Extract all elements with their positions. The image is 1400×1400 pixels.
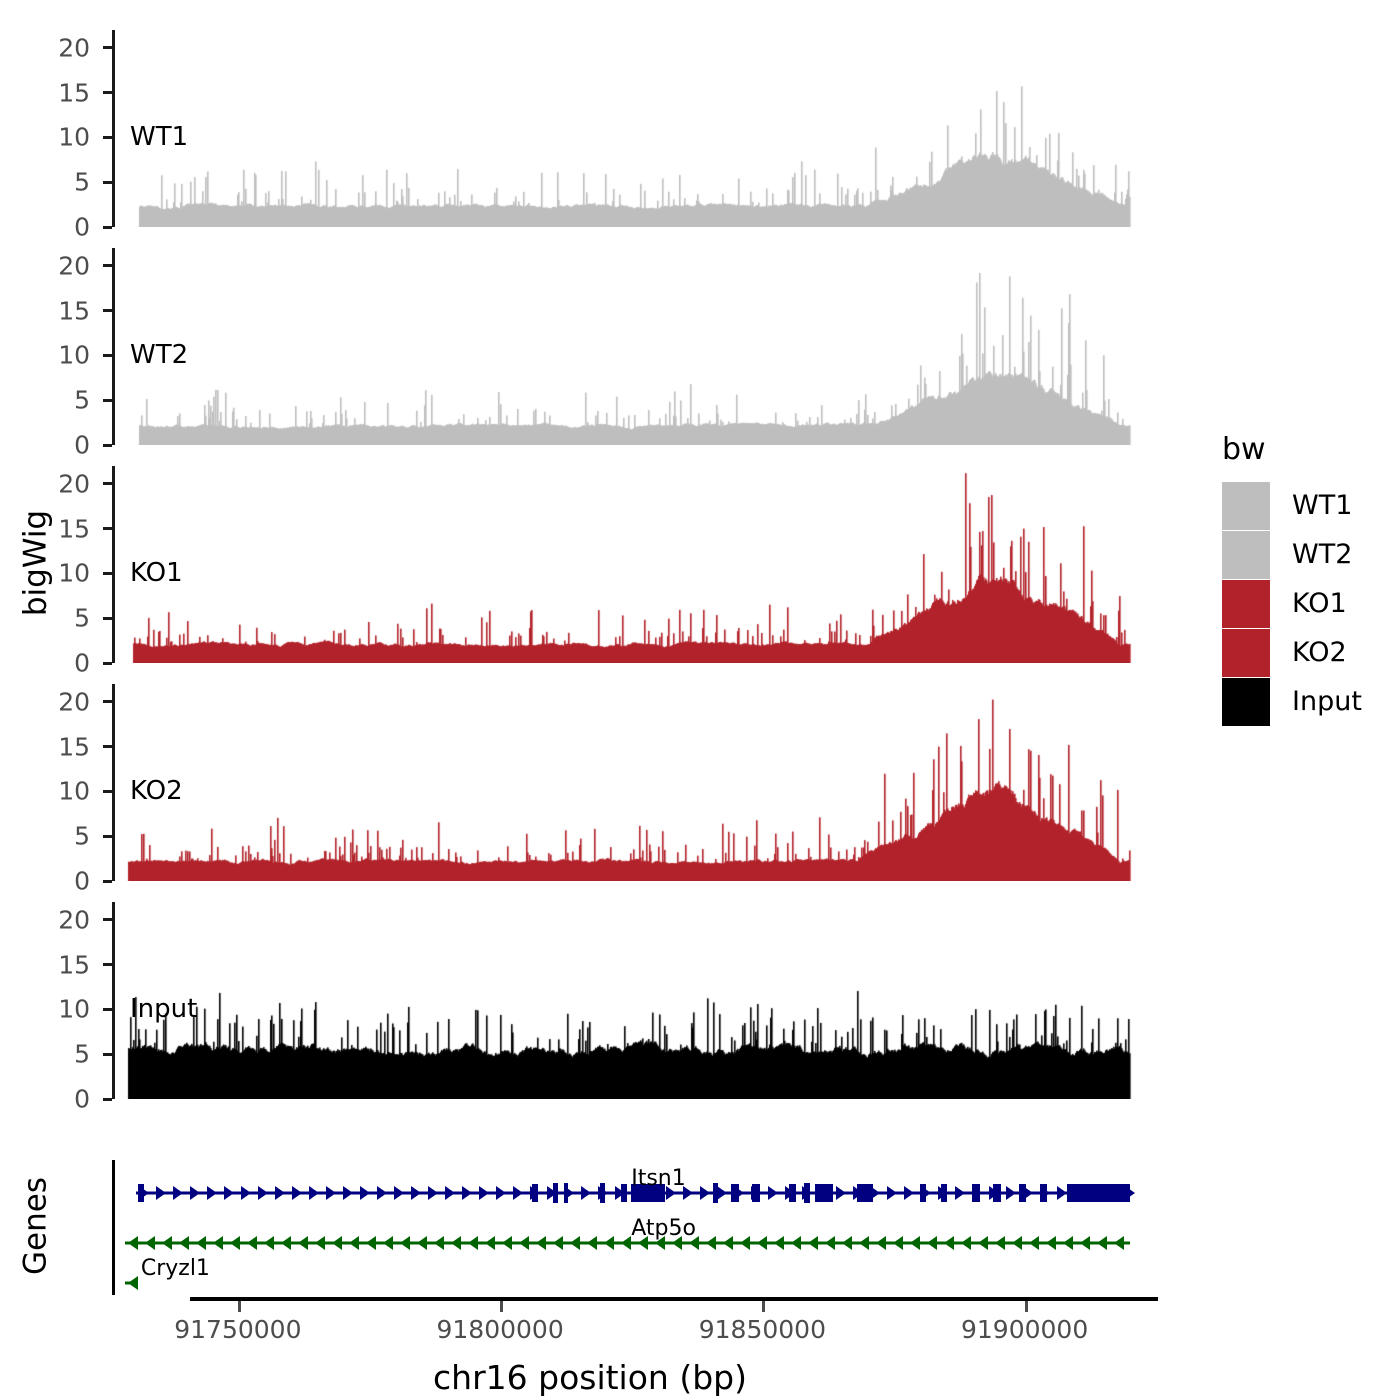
strand-arrow-reverse-icon — [791, 1236, 801, 1250]
y-tick — [103, 1098, 112, 1101]
y-tick — [103, 46, 112, 49]
y-tick — [103, 482, 112, 485]
y-tick-label: 0 — [74, 213, 90, 242]
signal-plot-area — [115, 30, 1152, 227]
strand-arrow-forward-icon — [241, 1186, 251, 1200]
legend-label: KO2 — [1292, 637, 1347, 668]
gene-label-itsn1: Itsn1 — [631, 1166, 686, 1191]
gene-exon — [731, 1184, 739, 1202]
strand-arrow-reverse-icon — [128, 1276, 138, 1290]
strand-arrow-reverse-icon — [451, 1236, 461, 1250]
gene-exon — [857, 1184, 873, 1202]
y-tick-label: 0 — [74, 431, 90, 460]
gene-exon — [804, 1183, 809, 1203]
strand-arrow-reverse-icon — [1063, 1236, 1073, 1250]
strand-arrow-forward-icon — [717, 1186, 727, 1200]
x-tick-label: 91900000 — [961, 1315, 1088, 1344]
strand-arrow-forward-icon — [411, 1186, 421, 1200]
strand-arrow-reverse-icon — [587, 1236, 597, 1250]
y-tick — [103, 226, 112, 229]
strand-arrow-forward-icon — [836, 1186, 846, 1200]
y-tick — [103, 963, 112, 966]
strand-arrow-forward-icon — [479, 1186, 489, 1200]
y-tick — [103, 1053, 112, 1056]
strand-arrow-forward-icon — [326, 1186, 336, 1200]
gene-exon — [752, 1184, 760, 1202]
y-tick — [103, 880, 112, 883]
y-tick-label: 10 — [58, 341, 90, 370]
strand-arrow-reverse-icon — [128, 1236, 138, 1250]
strand-arrow-reverse-icon — [740, 1236, 750, 1250]
strand-arrow-reverse-icon — [1012, 1236, 1022, 1250]
y-tick — [103, 790, 112, 793]
legend-swatch — [1222, 482, 1270, 530]
strand-arrow-reverse-icon — [774, 1236, 784, 1250]
strand-arrow-reverse-icon — [230, 1236, 240, 1250]
signal-panel-ko1: 05101520KO1 — [112, 466, 1152, 663]
strand-arrow-reverse-icon — [859, 1236, 869, 1250]
gene-exon — [564, 1183, 568, 1203]
y-tick-label: 5 — [74, 604, 90, 633]
y-tick-label: 20 — [58, 905, 90, 934]
x-axis-title: chr16 position (bp) — [0, 1358, 1180, 1397]
y-tick — [103, 264, 112, 267]
strand-arrow-reverse-icon — [842, 1236, 852, 1250]
y-tick-label: 0 — [74, 649, 90, 678]
y-tick-label: 15 — [58, 514, 90, 543]
strand-arrow-reverse-icon — [179, 1236, 189, 1250]
y-tick-label: 5 — [74, 386, 90, 415]
y-tick-label: 5 — [74, 822, 90, 851]
signal-panel-input: 05101520Input — [112, 902, 1152, 1099]
y-tick-label: 20 — [58, 251, 90, 280]
strand-arrow-reverse-icon — [893, 1236, 903, 1250]
signal-panel-wt1: 05101520WT1 — [112, 30, 1152, 227]
legend-swatch — [1222, 629, 1270, 677]
x-tick-label: 91750000 — [174, 1315, 301, 1344]
y-tick-label: 0 — [74, 1085, 90, 1114]
strand-arrow-reverse-icon — [944, 1236, 954, 1250]
legend-label: KO1 — [1292, 588, 1347, 619]
x-tick-label: 91850000 — [699, 1315, 826, 1344]
strand-arrow-forward-icon — [1006, 1186, 1016, 1200]
y-tick — [103, 309, 112, 312]
signal-plot-area — [115, 248, 1152, 445]
strand-arrow-forward-icon — [224, 1186, 234, 1200]
gene-exon — [941, 1184, 947, 1202]
y-axis-title-bigwig: bigWig — [17, 28, 53, 1097]
y-tick-label: 20 — [58, 33, 90, 62]
strand-arrow-forward-icon — [309, 1186, 319, 1200]
genes-panel: Itsn1Atp5oCryzl1 — [112, 1160, 1152, 1295]
strand-arrow-reverse-icon — [485, 1236, 495, 1250]
strand-arrow-forward-icon — [768, 1186, 778, 1200]
legend-swatch — [1222, 678, 1270, 726]
y-tick — [103, 91, 112, 94]
strand-arrow-reverse-icon — [247, 1236, 257, 1250]
signal-panel-ko2: 05101520KO2 — [112, 684, 1152, 881]
y-tick-label: 15 — [58, 296, 90, 325]
legend-item-ko1[interactable]: KO1 — [1222, 579, 1362, 628]
y-axis-title-genes: Genes — [17, 1158, 53, 1293]
y-tick — [103, 745, 112, 748]
strand-arrow-reverse-icon — [468, 1236, 478, 1250]
y-tick-label: 0 — [74, 867, 90, 896]
y-tick-label: 15 — [58, 78, 90, 107]
x-tick — [238, 1301, 241, 1312]
x-tick — [500, 1301, 503, 1312]
strand-arrow-forward-icon — [462, 1186, 472, 1200]
strand-arrow-reverse-icon — [910, 1236, 920, 1250]
y-tick — [103, 527, 112, 530]
strand-arrow-reverse-icon — [995, 1236, 1005, 1250]
strand-arrow-forward-icon — [394, 1186, 404, 1200]
legend-title: bw — [1222, 432, 1362, 467]
y-tick-label: 15 — [58, 732, 90, 761]
strand-arrow-reverse-icon — [1080, 1236, 1090, 1250]
gene-exon — [815, 1184, 833, 1202]
strand-arrow-reverse-icon — [1097, 1236, 1107, 1250]
strand-arrow-reverse-icon — [315, 1236, 325, 1250]
y-tick — [103, 662, 112, 665]
strand-arrow-reverse-icon — [553, 1236, 563, 1250]
strand-arrow-forward-icon — [190, 1186, 200, 1200]
strand-arrow-forward-icon — [887, 1186, 897, 1200]
strand-arrow-reverse-icon — [876, 1236, 886, 1250]
legend-item-wt1[interactable]: WT1 — [1222, 481, 1362, 530]
strand-arrow-reverse-icon — [706, 1236, 716, 1250]
gene-exon — [713, 1183, 718, 1203]
gene-label-atp5o: Atp5o — [631, 1216, 696, 1241]
strand-arrow-reverse-icon — [298, 1236, 308, 1250]
strand-arrow-reverse-icon — [1029, 1236, 1039, 1250]
strand-arrow-reverse-icon — [961, 1236, 971, 1250]
strand-arrow-reverse-icon — [400, 1236, 410, 1250]
strand-arrow-forward-icon — [292, 1186, 302, 1200]
y-tick — [103, 399, 112, 402]
signal-plot-area — [115, 684, 1152, 881]
gene-exon — [972, 1184, 980, 1202]
y-tick — [103, 354, 112, 357]
strand-arrow-reverse-icon — [264, 1236, 274, 1250]
strand-arrow-reverse-icon — [349, 1236, 359, 1250]
legend-label: WT1 — [1292, 490, 1352, 521]
gene-exon — [1019, 1184, 1025, 1202]
strand-arrow-reverse-icon — [519, 1236, 529, 1250]
strand-arrow-reverse-icon — [536, 1236, 546, 1250]
y-tick — [103, 1008, 112, 1011]
legend: bw WT1WT2KO1KO2Input — [1222, 432, 1362, 726]
strand-arrow-forward-icon — [173, 1186, 183, 1200]
strand-arrow-reverse-icon — [366, 1236, 376, 1250]
genes-plot-area: Itsn1Atp5oCryzl1 — [112, 1160, 1152, 1295]
strand-arrow-reverse-icon — [621, 1236, 631, 1250]
strand-arrow-forward-icon — [955, 1186, 965, 1200]
strand-arrow-reverse-icon — [383, 1236, 393, 1250]
strand-arrow-reverse-icon — [570, 1236, 580, 1250]
y-tick-label: 15 — [58, 950, 90, 979]
y-tick-label: 10 — [58, 777, 90, 806]
legend-item-wt2[interactable]: WT2 — [1222, 530, 1362, 579]
legend-swatch — [1222, 531, 1270, 579]
gene-atp5o[interactable] — [125, 1232, 1129, 1254]
signal-panel-wt2: 05101520WT2 — [112, 248, 1152, 445]
gene-label-cryzl1: Cryzl1 — [141, 1256, 210, 1281]
strand-arrow-forward-icon — [904, 1186, 914, 1200]
strand-arrow-forward-icon — [207, 1186, 217, 1200]
strand-arrow-forward-icon — [377, 1186, 387, 1200]
y-tick — [103, 700, 112, 703]
strand-arrow-reverse-icon — [808, 1236, 818, 1250]
gene-exon — [600, 1183, 605, 1203]
y-tick-label: 20 — [58, 687, 90, 716]
y-tick — [103, 572, 112, 575]
strand-arrow-forward-icon — [258, 1186, 268, 1200]
gene-exon — [1040, 1184, 1046, 1202]
signal-plot-area — [115, 902, 1152, 1099]
y-tick-label: 20 — [58, 469, 90, 498]
strand-arrow-forward-icon — [360, 1186, 370, 1200]
strand-arrow-reverse-icon — [162, 1236, 172, 1250]
gene-exon — [920, 1184, 926, 1202]
strand-arrow-reverse-icon — [196, 1236, 206, 1250]
strand-arrow-forward-icon — [1057, 1186, 1067, 1200]
y-tick-label: 10 — [58, 995, 90, 1024]
gene-exon — [138, 1184, 144, 1202]
strand-arrow-reverse-icon — [434, 1236, 444, 1250]
strand-arrow-reverse-icon — [978, 1236, 988, 1250]
strand-arrow-reverse-icon — [927, 1236, 937, 1250]
signal-plot-area — [115, 466, 1152, 663]
x-tick — [762, 1301, 765, 1312]
y-tick — [103, 444, 112, 447]
gene-exon — [553, 1183, 558, 1203]
strand-arrow-reverse-icon — [332, 1236, 342, 1250]
strand-arrow-reverse-icon — [757, 1236, 767, 1250]
strand-arrow-forward-icon — [445, 1186, 455, 1200]
strand-arrow-forward-icon — [275, 1186, 285, 1200]
x-tick — [1025, 1301, 1028, 1312]
y-tick — [103, 918, 112, 921]
y-tick-label: 10 — [58, 559, 90, 588]
strand-arrow-forward-icon — [156, 1186, 166, 1200]
legend-label: Input — [1292, 686, 1362, 717]
strand-arrow-reverse-icon — [502, 1236, 512, 1250]
strand-arrow-forward-icon — [513, 1186, 523, 1200]
y-tick — [103, 181, 112, 184]
strand-arrow-reverse-icon — [145, 1236, 155, 1250]
strand-arrow-forward-icon — [428, 1186, 438, 1200]
x-tick-label: 91800000 — [436, 1315, 563, 1344]
y-tick-label: 5 — [74, 168, 90, 197]
y-tick — [103, 617, 112, 620]
y-tick-label: 5 — [74, 1040, 90, 1069]
strand-arrow-reverse-icon — [281, 1236, 291, 1250]
strand-arrow-reverse-icon — [417, 1236, 427, 1250]
legend-label: WT2 — [1292, 539, 1352, 570]
strand-arrow-forward-icon — [581, 1186, 591, 1200]
legend-swatch — [1222, 580, 1270, 628]
gene-exon — [1067, 1184, 1130, 1202]
strand-arrow-forward-icon — [496, 1186, 506, 1200]
gene-exon — [789, 1184, 797, 1202]
x-axis-line — [190, 1297, 1158, 1301]
y-tick — [103, 835, 112, 838]
gene-exon — [532, 1184, 538, 1202]
strand-arrow-reverse-icon — [604, 1236, 614, 1250]
gene-exon — [621, 1184, 627, 1202]
gene-exon — [993, 1184, 1001, 1202]
strand-arrow-reverse-icon — [1046, 1236, 1056, 1250]
y-tick — [103, 136, 112, 139]
strand-arrow-reverse-icon — [1114, 1236, 1124, 1250]
strand-arrow-forward-icon — [700, 1186, 710, 1200]
legend-item-ko2[interactable]: KO2 — [1222, 628, 1362, 677]
legend-item-input[interactable]: Input — [1222, 677, 1362, 726]
strand-arrow-reverse-icon — [825, 1236, 835, 1250]
strand-arrow-forward-icon — [343, 1186, 353, 1200]
strand-arrow-reverse-icon — [213, 1236, 223, 1250]
y-tick-label: 10 — [58, 123, 90, 152]
strand-arrow-reverse-icon — [723, 1236, 733, 1250]
gene-cryzl1[interactable] — [125, 1272, 135, 1294]
